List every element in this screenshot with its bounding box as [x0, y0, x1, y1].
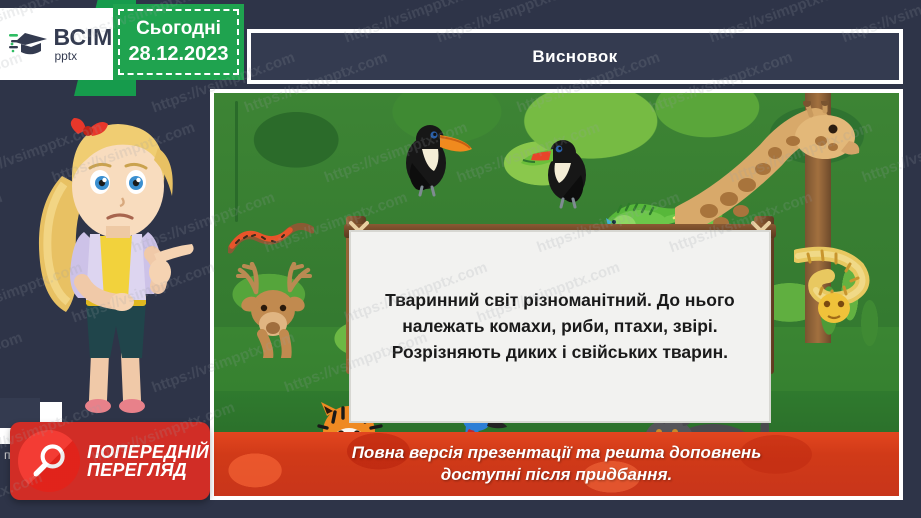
toucan-icon: [515, 129, 601, 209]
logo-name: ВСІМ: [53, 26, 112, 49]
date-value: 28.12.2023: [128, 43, 228, 66]
toucan-icon: [392, 113, 478, 199]
preview-label-line-2: ПЕРЕГЛЯД: [87, 461, 209, 479]
sign-board: Тваринний світ різноманітний. До нього н…: [349, 230, 771, 424]
banner-line-1: Повна версія презентації та решта доповн…: [352, 442, 762, 464]
jungle-scene-panel: Тваринний світ різноманітний. До нього н…: [210, 89, 903, 500]
slide-header: Висновок: [247, 29, 903, 84]
brand-logo[interactable]: ВСІМ pptx: [0, 8, 122, 80]
purchase-notice-banner: Повна версія презентації та решта доповн…: [214, 432, 899, 496]
logo-subtitle: pptx: [54, 50, 77, 62]
magnifier-icon: [18, 430, 80, 492]
presentation-slide: Тваринний світ різноманітний. До нього н…: [0, 0, 921, 518]
banner-line-2: доступні після придбання.: [441, 464, 672, 486]
graduation-cap-icon: [9, 27, 49, 61]
date-label: Сьогодні: [136, 18, 221, 40]
giraffe-icon: [675, 101, 865, 231]
header-bar: Висновок: [251, 33, 899, 80]
conclusion-text: Тваринний світ різноманітний. До нього н…: [373, 288, 747, 366]
date-badge: Сьогодні 28.12.2023: [113, 4, 244, 80]
red-snake-icon: [228, 222, 314, 262]
jungle-illustration: Тваринний світ різноманітний. До нього н…: [214, 93, 899, 496]
preview-badge[interactable]: ПОПЕРЕДНІЙ ПЕРЕГЛЯД: [10, 422, 210, 500]
cartoon-girl-character: [26, 104, 204, 422]
vine-decoration: [235, 101, 238, 222]
deer-icon: [228, 262, 320, 358]
preview-badge-label: ПОПЕРЕДНІЙ ПЕРЕГЛЯД: [87, 443, 209, 480]
page-title: Висновок: [532, 47, 617, 67]
python-snake-icon: [794, 246, 872, 338]
wooden-sign: Тваринний світ різноманітний. До нього н…: [344, 214, 776, 428]
preview-label-line-1: ПОПЕРЕДНІЙ: [87, 443, 209, 461]
